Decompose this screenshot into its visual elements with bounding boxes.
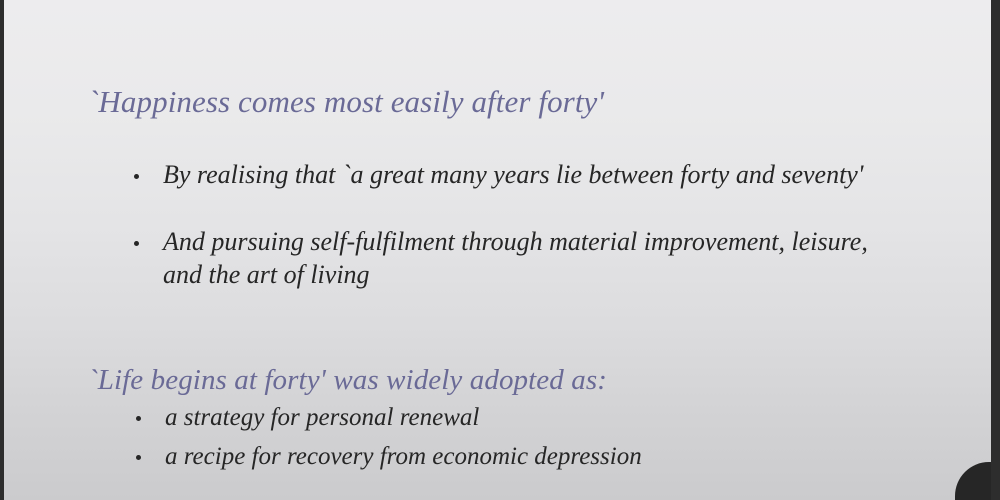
slide-heading-primary: `Happiness comes most easily after forty…: [88, 84, 604, 120]
list-item: a recipe for recovery from economic depr…: [131, 441, 921, 472]
left-edge-bezel: [0, 0, 4, 500]
bullet-dot-icon: [134, 174, 139, 179]
right-edge-bezel: [991, 0, 1000, 500]
bullet-dot-icon: [136, 416, 141, 421]
bullet-list-secondary: a strategy for personal renewal a recipe…: [131, 402, 921, 472]
list-item-label: a strategy for personal renewal: [165, 404, 479, 431]
list-item: And pursuing self-fulfilment through mat…: [131, 225, 903, 291]
list-item-label: And pursuing self-fulfilment through mat…: [163, 227, 868, 289]
list-item: By realising that `a great many years li…: [131, 158, 903, 191]
list-item-label: By realising that `a great many years li…: [163, 160, 863, 189]
list-item: a strategy for personal renewal: [131, 402, 921, 433]
bullet-list-primary: By realising that `a great many years li…: [131, 158, 921, 291]
slide-heading-secondary: `Life begins at forty' was widely adopte…: [88, 364, 607, 397]
presentation-slide: `Happiness comes most easily after forty…: [0, 0, 1000, 500]
list-item-label: a recipe for recovery from economic depr…: [165, 443, 642, 470]
bullet-dot-icon: [134, 241, 139, 246]
bullet-dot-icon: [136, 455, 141, 460]
slide-content: `Happiness comes most easily after forty…: [0, 0, 1000, 500]
